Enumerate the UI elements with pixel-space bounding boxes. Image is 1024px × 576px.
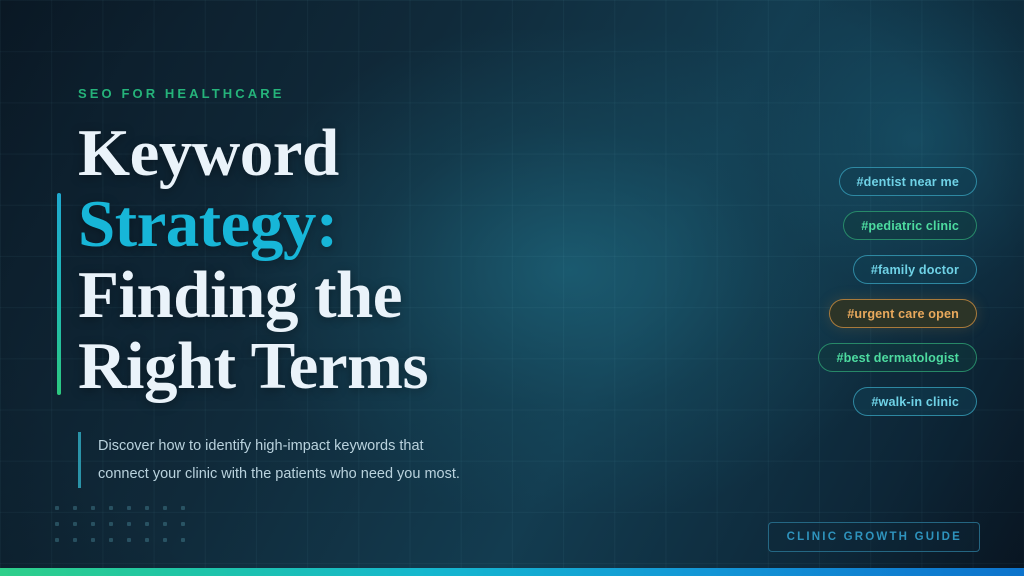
dot-grid-decoration xyxy=(55,506,199,554)
status-badge[interactable]: CLINIC GROWTH GUIDE xyxy=(768,522,980,552)
subtitle-line-1: Discover how to identify high-impact key… xyxy=(98,432,548,460)
decorative-dot xyxy=(91,522,95,526)
keyword-pill[interactable]: #family doctor xyxy=(853,255,977,284)
decorative-dot xyxy=(163,522,167,526)
decorative-dot xyxy=(91,538,95,542)
headline-accent-bar xyxy=(57,193,61,395)
slide-canvas: SEO FOR HEALTHCARE Keyword Strategy: Fin… xyxy=(0,0,1024,576)
headline-line-2-accent: Strategy: xyxy=(78,189,428,260)
decorative-dot xyxy=(127,522,131,526)
decorative-dot xyxy=(73,506,77,510)
decorative-dot xyxy=(127,506,131,510)
keyword-pill[interactable]: #best dermatologist xyxy=(818,343,977,372)
decorative-dot xyxy=(109,538,113,542)
decorative-dot xyxy=(181,506,185,510)
decorative-dot xyxy=(55,506,59,510)
decorative-dot xyxy=(145,522,149,526)
keyword-pill-list: #dentist near me#pediatric clinic#family… xyxy=(818,167,977,416)
decorative-dot xyxy=(55,522,59,526)
bottom-gradient-bar xyxy=(0,568,1024,576)
decorative-dot xyxy=(109,522,113,526)
keyword-pill-highlighted[interactable]: #urgent care open xyxy=(829,299,977,328)
keyword-pill[interactable]: #walk-in clinic xyxy=(853,387,977,416)
decorative-dot xyxy=(91,506,95,510)
decorative-dot xyxy=(181,538,185,542)
slide-content: SEO FOR HEALTHCARE Keyword Strategy: Fin… xyxy=(0,0,1024,576)
decorative-dot xyxy=(73,538,77,542)
subtitle-block: Discover how to identify high-impact key… xyxy=(78,432,548,488)
decorative-dot xyxy=(145,538,149,542)
decorative-dot xyxy=(73,522,77,526)
decorative-dot xyxy=(127,538,131,542)
headline-line-4: Right Terms xyxy=(78,331,428,402)
keyword-pill[interactable]: #pediatric clinic xyxy=(843,211,977,240)
decorative-dot xyxy=(145,506,149,510)
decorative-dot xyxy=(163,538,167,542)
eyebrow-label: SEO FOR HEALTHCARE xyxy=(78,86,285,101)
page-title: Keyword Strategy: Finding the Right Term… xyxy=(78,118,428,402)
decorative-dot xyxy=(55,538,59,542)
keyword-pill[interactable]: #dentist near me xyxy=(839,167,978,196)
decorative-dot xyxy=(109,506,113,510)
subtitle-line-2: connect your clinic with the patients wh… xyxy=(98,460,548,488)
headline-line-1: Keyword xyxy=(78,118,428,189)
headline-line-3: Finding the xyxy=(78,260,428,331)
decorative-dot xyxy=(181,522,185,526)
decorative-dot xyxy=(163,506,167,510)
